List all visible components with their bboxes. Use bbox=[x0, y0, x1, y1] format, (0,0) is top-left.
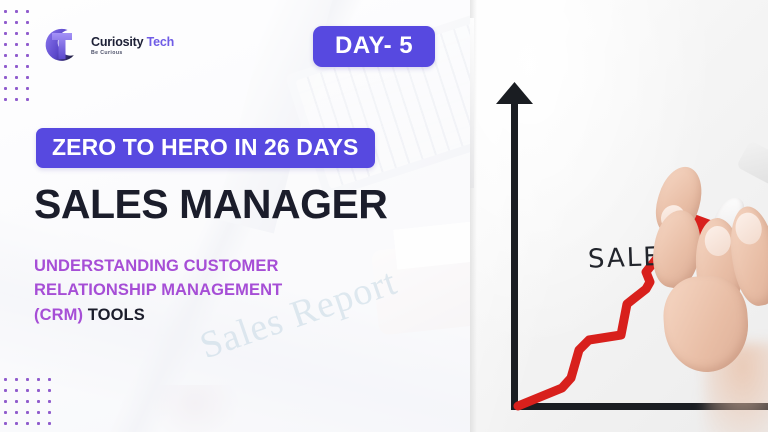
topic-subtitle: UNDERSTANDING CUSTOMER RELATIONSHIP MANA… bbox=[34, 254, 282, 327]
brand-logo-text: Curiosity Tech Be Curious bbox=[91, 34, 174, 56]
brand-logo[interactable]: Curiosity Tech Be Curious bbox=[38, 22, 174, 68]
brand-name-primary: Curiosity bbox=[91, 35, 143, 49]
subtitle-line-3-dark: TOOLS bbox=[88, 306, 145, 324]
subtitle-line-1: UNDERSTANDING CUSTOMER bbox=[34, 257, 279, 275]
left-content-panel: Sales Report bbox=[0, 0, 470, 432]
arrow-up-axis-icon bbox=[496, 82, 533, 410]
desk-blur-decoration bbox=[150, 385, 240, 432]
course-ribbon-banner: ZERO TO HERO IN 26 DAYS bbox=[36, 128, 375, 168]
fingernail bbox=[733, 211, 764, 247]
page-title: SALES MANAGER bbox=[34, 183, 387, 226]
fingernail bbox=[704, 225, 732, 256]
brand-name-secondary: Tech bbox=[147, 35, 174, 49]
curiosity-tech-logo-icon bbox=[38, 22, 84, 68]
subtitle-line-3-accent: (CRM) bbox=[34, 306, 83, 324]
hand-holding-marker-icon bbox=[652, 148, 768, 398]
promotional-poster: Sales Report bbox=[0, 0, 768, 432]
paper-sheet-decoration bbox=[393, 220, 470, 269]
dot-grid-bottom-left-decoration bbox=[4, 378, 56, 432]
subtitle-line-2: RELATIONSHIP MANAGEMENT bbox=[34, 281, 282, 299]
sales-chart-photo-panel: SALES bbox=[470, 0, 768, 432]
dot-grid-top-left-decoration bbox=[4, 10, 34, 110]
marker-barrel bbox=[736, 140, 768, 192]
brand-tagline: Be Curious bbox=[91, 51, 174, 56]
day-number-badge: DAY- 5 bbox=[313, 26, 435, 67]
